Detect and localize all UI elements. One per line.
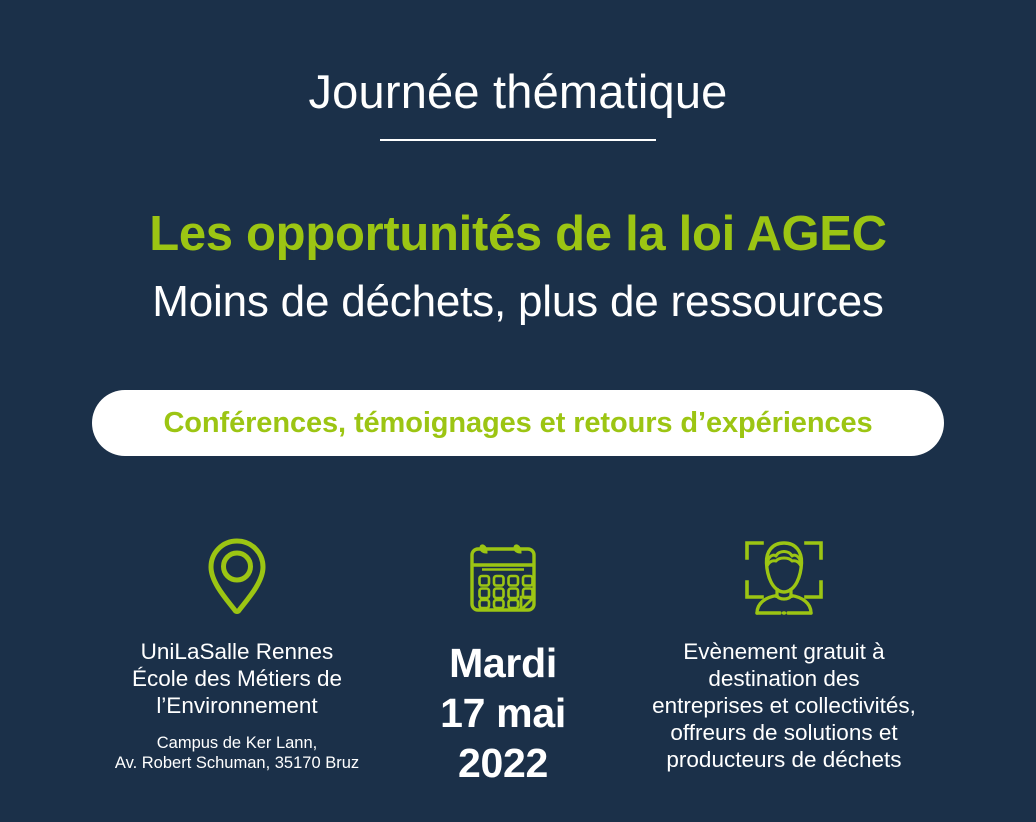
- audience-line-5: producteurs de déchets: [666, 747, 901, 772]
- venue-name-line-2: École des Métiers de: [132, 666, 342, 691]
- location-pin-icon: [206, 532, 268, 622]
- info-column-date: Mardi 17 mai 2022: [387, 532, 619, 788]
- venue-address-line-2: Av. Robert Schuman, 35170 Bruz: [115, 754, 359, 772]
- poster-title: Les opportunités de la loi AGEC: [0, 206, 1036, 264]
- venue-address-line-1: Campus de Ker Lann,: [157, 734, 318, 752]
- event-date-line-2: 17 mai: [440, 690, 566, 736]
- poster-headline-block: Les opportunités de la loi AGEC Moins de…: [0, 206, 1036, 329]
- audience-line-4: offreurs de solutions et: [670, 720, 897, 745]
- venue-address: Campus de Ker Lann, Av. Robert Schuman, …: [115, 733, 359, 774]
- audience-description: Evènement gratuit à destination des entr…: [652, 638, 916, 773]
- venue-name-line-1: UniLaSalle Rennes: [141, 639, 334, 664]
- poster-kicker-block: Journée thématique: [0, 66, 1036, 141]
- info-column-venue: UniLaSalle Rennes École des Métiers de l…: [87, 532, 387, 774]
- calendar-icon: [466, 532, 540, 622]
- venue-name: UniLaSalle Rennes École des Métiers de l…: [132, 638, 342, 719]
- info-columns: UniLaSalle Rennes École des Métiers de l…: [0, 532, 1036, 812]
- person-scan-icon: [742, 532, 826, 622]
- audience-line-2: destination des: [708, 666, 859, 691]
- audience-line-3: entreprises et collectivités,: [652, 693, 916, 718]
- audience-line-1: Evènement gratuit à: [683, 639, 884, 664]
- event-date-line-1: Mardi: [449, 640, 557, 686]
- event-date-line-3: 2022: [458, 740, 548, 786]
- info-column-audience: Evènement gratuit à destination des entr…: [619, 532, 949, 773]
- pill-banner: Conférences, témoignages et retours d’ex…: [92, 390, 944, 456]
- poster-kicker: Journée thématique: [0, 66, 1036, 119]
- venue-name-line-3: l’Environnement: [156, 693, 317, 718]
- event-date: Mardi 17 mai 2022: [440, 638, 566, 788]
- kicker-divider: [380, 139, 656, 141]
- poster-subtitle: Moins de déchets, plus de ressources: [0, 276, 1036, 329]
- pill-banner-label: Conférences, témoignages et retours d’ex…: [163, 407, 872, 440]
- event-poster: Journée thématique Les opportunités de l…: [0, 0, 1036, 822]
